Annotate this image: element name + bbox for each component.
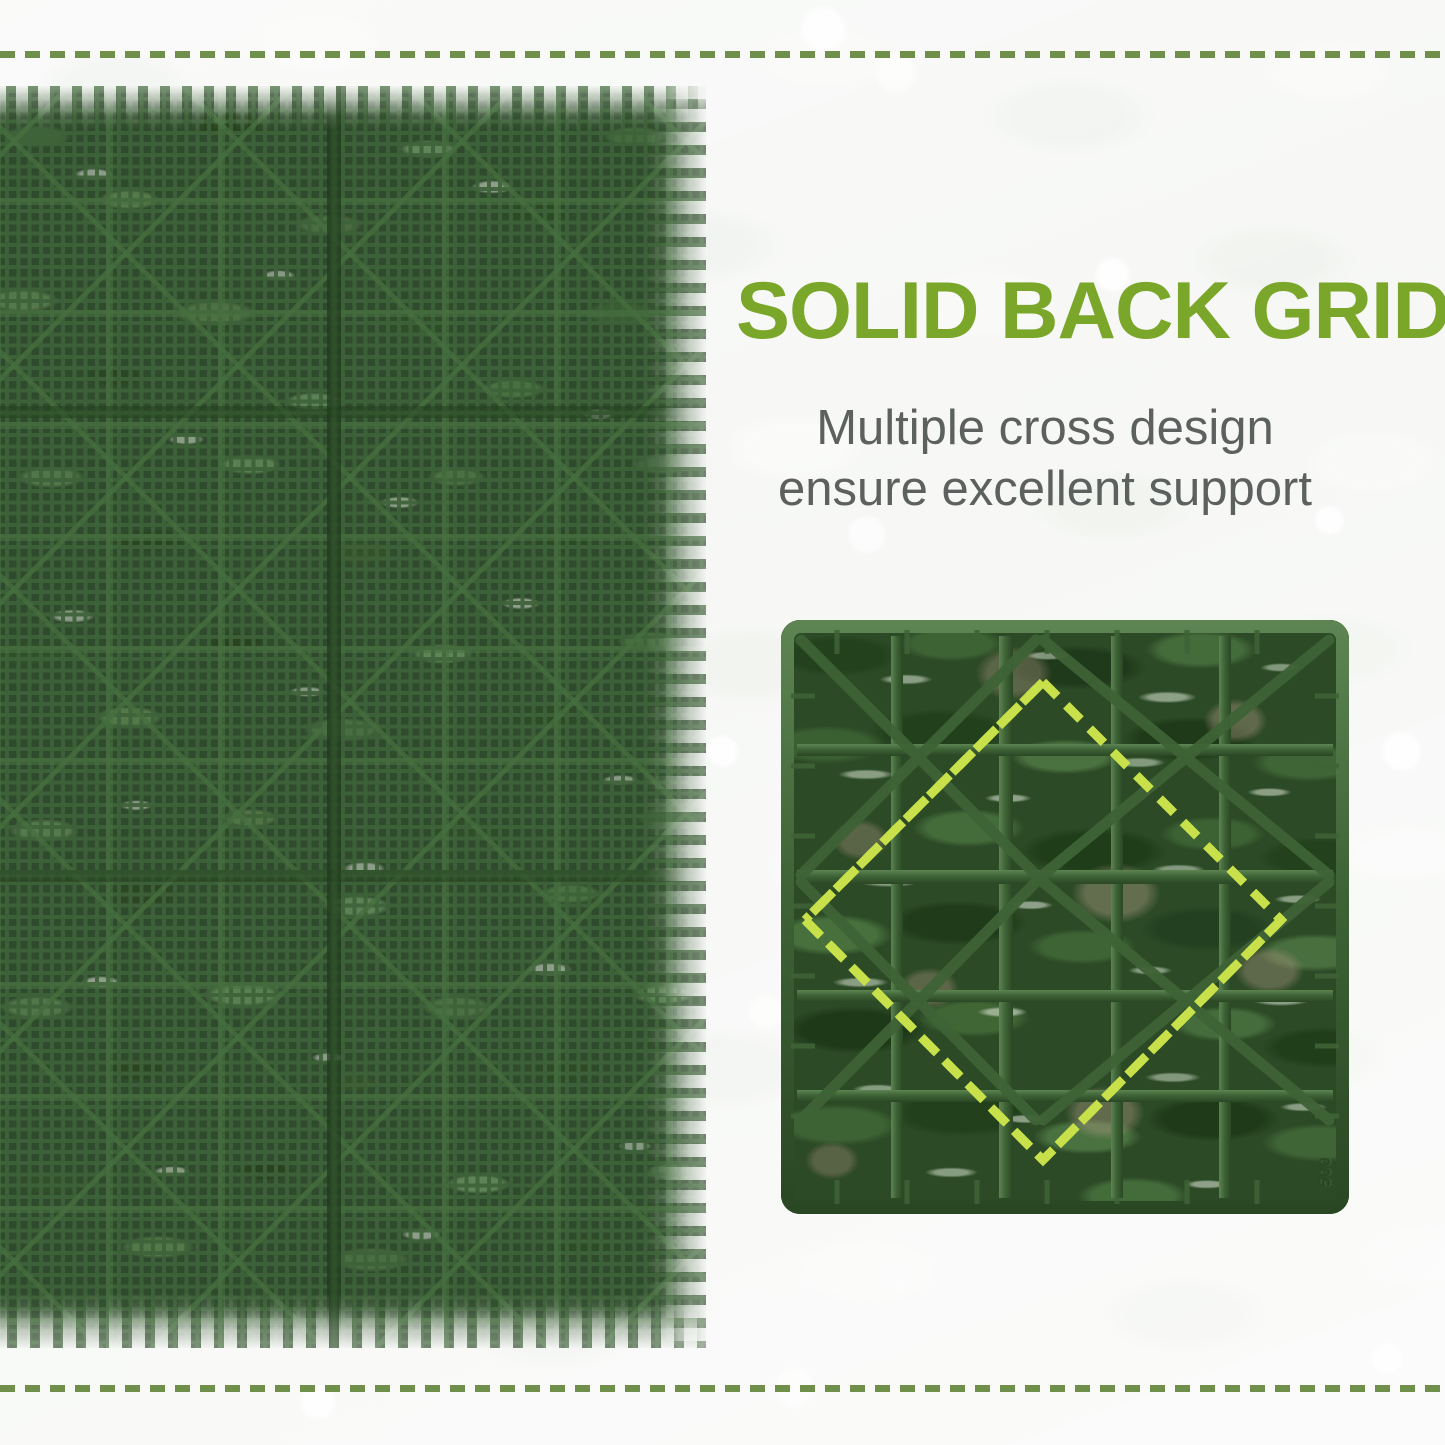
hero-panel-seam-horizontal-lower: [0, 870, 706, 882]
marketing-graphic: SOLID BACK GRID Multiple cross design en…: [0, 0, 1445, 1445]
headline: SOLID BACK GRID: [736, 271, 1426, 352]
hero-panel-seam-vertical: [327, 86, 341, 1348]
hero-cross-bracing-layer: [0, 86, 706, 1348]
hero-panel-seam-horizontal-upper: [0, 406, 706, 418]
subtitle-line-1: Multiple cross design: [736, 398, 1354, 459]
inset-grid-overlay: [781, 620, 1349, 1214]
hero-edge-fade-right: [644, 86, 706, 1348]
inset-closeup-photo: 500: [781, 620, 1349, 1214]
dashed-rule-bottom: [0, 1385, 1445, 1392]
dashed-rule-top: [0, 51, 1445, 58]
subtitle-line-2: ensure excellent support: [736, 459, 1354, 520]
hero-edge-fade-bottom: [0, 1292, 706, 1348]
hero-product-photo: [0, 86, 706, 1348]
hero-edge-fade-top: [0, 86, 706, 130]
mold-marking: 500: [1315, 1156, 1335, 1187]
subtitle: Multiple cross design ensure excellent s…: [736, 398, 1354, 520]
